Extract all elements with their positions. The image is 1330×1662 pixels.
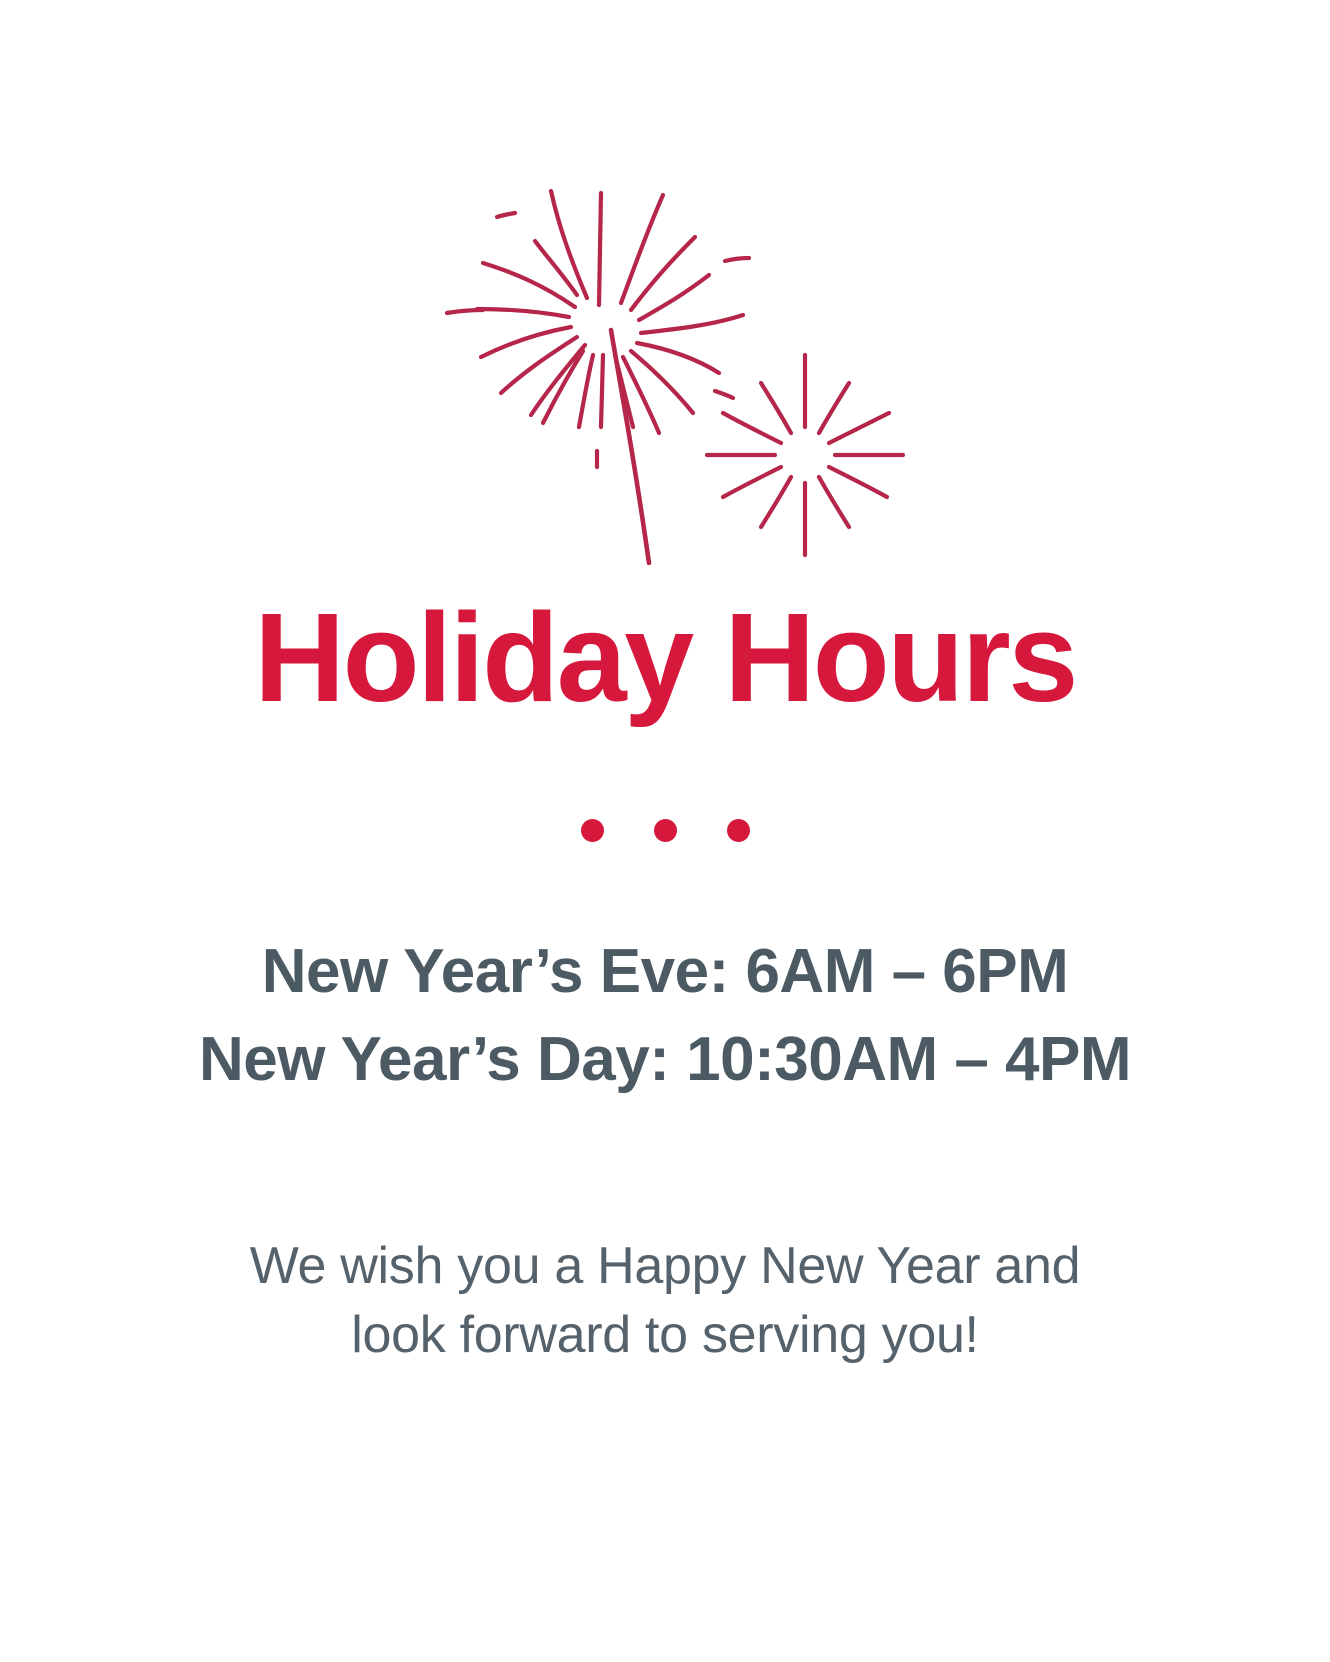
fireworks-svg (425, 165, 905, 565)
divider-dot-1 (581, 819, 604, 842)
divider-dot-3 (727, 819, 750, 842)
divider-dot-2 (654, 819, 677, 842)
hours-line-new-years-day: New Year’s Day: 10:30AM – 4PM (199, 1016, 1131, 1104)
fireworks-illustration (0, 165, 1330, 595)
small-firework-burst (707, 355, 903, 555)
page-title: Holiday Hours (254, 595, 1076, 721)
hours-line-new-years-eve: New Year’s Eve: 6AM – 6PM (199, 928, 1131, 1016)
three-dot-divider (581, 819, 750, 842)
closing-message-line-2: look forward to serving you! (250, 1301, 1081, 1370)
holiday-hours-poster: Holiday Hours New Year’s Eve: 6AM – 6PM … (0, 0, 1330, 1662)
closing-message: We wish you a Happy New Year and look fo… (250, 1232, 1081, 1369)
holiday-hours-list: New Year’s Eve: 6AM – 6PM New Year’s Day… (199, 928, 1131, 1104)
closing-message-line-1: We wish you a Happy New Year and (250, 1232, 1081, 1301)
large-firework-burst (447, 191, 749, 563)
